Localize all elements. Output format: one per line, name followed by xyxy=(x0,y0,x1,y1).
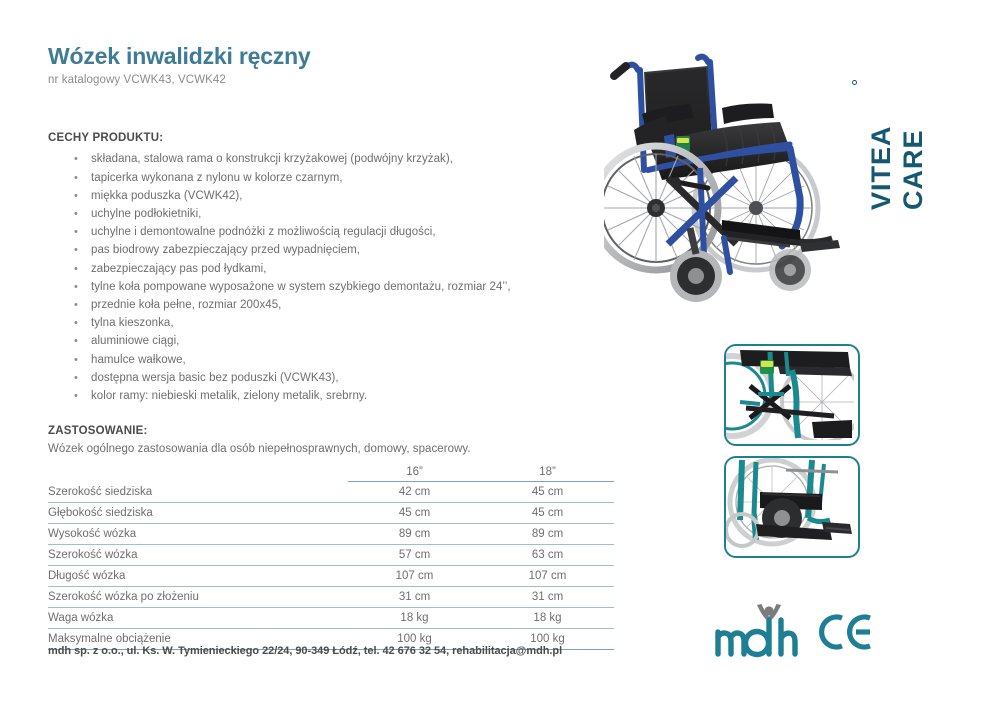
bullet-icon: • xyxy=(74,296,78,314)
row-value-18: 63 cm xyxy=(481,545,614,566)
row-value-18: 107 cm xyxy=(481,566,614,587)
table-body: Szerokość siedziska 42 cm 45 cm Głębokoś… xyxy=(48,482,614,650)
list-item: •tylna kieszonka, xyxy=(48,314,628,332)
bullet-icon: • xyxy=(74,278,78,296)
bullet-icon: • xyxy=(74,369,78,387)
bullet-icon: • xyxy=(74,351,78,369)
row-value-18: 45 cm xyxy=(481,503,614,524)
company-contact-line: mdh sp. z o.o., ul. Ks. W. Tymienieckieg… xyxy=(48,645,562,657)
bullet-icon: • xyxy=(74,260,78,278)
table-row: Wysokość wózka 89 cm 89 cm xyxy=(48,524,614,545)
list-item: •przednie koła pełne, rozmiar 200x45, xyxy=(48,296,628,314)
features-section: CECHY PRODUKTU: •składana, stalowa rama … xyxy=(48,132,628,405)
list-item: •hamulce wałkowe, xyxy=(48,351,628,369)
bullet-icon: • xyxy=(74,187,78,205)
table-row: Długość wózka 107 cm 107 cm xyxy=(48,566,614,587)
row-label: Szerokość siedziska xyxy=(48,482,348,503)
row-value-18: 45 cm xyxy=(481,482,614,503)
row-label: Waga wózka xyxy=(48,608,348,629)
bullet-icon: • xyxy=(74,314,78,332)
list-item-label: zabezpieczający pas pod łydkami, xyxy=(91,263,266,275)
list-item: •dostępna wersja basic bez poduszki (VCW… xyxy=(48,369,628,387)
list-item-label: dostępna wersja basic bez poduszki (VCWK… xyxy=(91,372,339,384)
specifications-table: 16” 18” Szerokość siedziska 42 cm 45 cm … xyxy=(48,462,614,650)
list-item: •zabezpieczający pas pod łydkami, xyxy=(48,260,628,278)
list-item: •aluminiowe ciągi, xyxy=(48,332,628,350)
care-wordmark: CARE xyxy=(900,129,927,210)
row-label: Głębokość siedziska xyxy=(48,503,348,524)
row-value-18: 18 kg xyxy=(481,608,614,629)
row-value-18: 31 cm xyxy=(481,587,614,608)
column-header-16: 16” xyxy=(348,462,481,482)
row-label: Wysokość wózka xyxy=(48,524,348,545)
specifications-table-container: 16” 18” Szerokość siedziska 42 cm 45 cm … xyxy=(48,462,614,650)
list-item-label: tapicerka wykonana z nylonu w kolorze cz… xyxy=(91,172,343,184)
main-product-photo xyxy=(604,48,842,310)
detail-photo-cross-brace xyxy=(724,344,860,446)
bullet-icon: • xyxy=(74,387,78,405)
column-header-18: 18” xyxy=(481,462,614,482)
table-row: Głębokość siedziska 45 cm 45 cm xyxy=(48,503,614,524)
list-item: •pas biodrowy zabezpieczający przed wypa… xyxy=(48,241,628,259)
row-value-16: 18 kg xyxy=(348,608,481,629)
catalog-number: nr katalogowy VCWK43, VCWK42 xyxy=(48,74,628,86)
ce-mark-icon xyxy=(818,612,874,652)
row-value-16: 89 cm xyxy=(348,524,481,545)
list-item-label: uchylne i demontowalne podnóżki z możliw… xyxy=(91,226,436,238)
list-item-label: składana, stalowa rama o konstrukcji krz… xyxy=(91,153,453,165)
list-item-label: uchylne podłokietniki, xyxy=(91,208,201,220)
vitea-wordmark: VITEA xyxy=(868,125,895,210)
list-item: •tylne koła pompowane wyposażone w syste… xyxy=(48,278,628,296)
table-header-row: 16” 18” xyxy=(48,462,614,482)
list-item-label: przednie koła pełne, rozmiar 200x45, xyxy=(91,299,281,311)
list-item: •kolor ramy: niebieski metalik, zielony … xyxy=(48,387,628,405)
mdh-logo xyxy=(712,604,822,658)
list-item-label: pas biodrowy zabezpieczający przed wypad… xyxy=(91,244,360,256)
row-value-16: 107 cm xyxy=(348,566,481,587)
table-header: 16” 18” xyxy=(48,462,614,482)
bullet-icon: • xyxy=(74,241,78,259)
feature-list: •składana, stalowa rama o konstrukcji kr… xyxy=(48,150,628,405)
list-item: •miękka poduszka (VCWK42), xyxy=(48,187,628,205)
application-text: Wózek ogólnego zastosowania dla osób nie… xyxy=(48,441,628,457)
vitea-care-logo: VITEA CARE xyxy=(846,62,892,212)
table-row: Szerokość siedziska 42 cm 45 cm xyxy=(48,482,614,503)
features-heading: CECHY PRODUKTU: xyxy=(48,132,628,144)
row-value-16: 31 cm xyxy=(348,587,481,608)
table-row: Waga wózka 18 kg 18 kg xyxy=(48,608,614,629)
row-value-18: 89 cm xyxy=(481,524,614,545)
row-value-16: 45 cm xyxy=(348,503,481,524)
application-heading: ZASTOSOWANIE: xyxy=(48,425,628,437)
content-column: Wózek inwalidzki ręczny nr katalogowy VC… xyxy=(48,44,628,457)
row-value-16: 42 cm xyxy=(348,482,481,503)
bullet-icon: • xyxy=(74,332,78,350)
bullet-icon: • xyxy=(74,223,78,241)
list-item-label: kolor ramy: niebieski metalik, zielony m… xyxy=(91,390,367,402)
list-item-label: miękka poduszka (VCWK42), xyxy=(91,190,242,202)
column-header-label xyxy=(48,462,348,482)
list-item: •tapicerka wykonana z nylonu w kolorze c… xyxy=(48,169,628,187)
list-item-label: tylna kieszonka, xyxy=(91,317,174,329)
detail-photo-footrest xyxy=(724,456,860,558)
list-item: •uchylne podłokietniki, xyxy=(48,205,628,223)
application-section: ZASTOSOWANIE: Wózek ogólnego zastosowani… xyxy=(48,425,628,457)
bullet-icon: • xyxy=(74,169,78,187)
registered-dot-icon xyxy=(852,80,857,85)
list-item-label: aluminiowe ciągi, xyxy=(91,335,179,347)
row-label: Szerokość wózka po złożeniu xyxy=(48,587,348,608)
table-row: Szerokość wózka 57 cm 63 cm xyxy=(48,545,614,566)
list-item: •uchylne i demontowalne podnóżki z możli… xyxy=(48,223,628,241)
list-item-label: tylne koła pompowane wyposażone w system… xyxy=(91,281,511,293)
row-value-16: 57 cm xyxy=(348,545,481,566)
row-label: Szerokość wózka xyxy=(48,545,348,566)
list-item: •składana, stalowa rama o konstrukcji kr… xyxy=(48,150,628,168)
bullet-icon: • xyxy=(74,150,78,168)
table-row: Szerokość wózka po złożeniu 31 cm 31 cm xyxy=(48,587,614,608)
page-title: Wózek inwalidzki ręczny xyxy=(48,44,628,69)
bullet-icon: • xyxy=(74,205,78,223)
row-label: Długość wózka xyxy=(48,566,348,587)
list-item-label: hamulce wałkowe, xyxy=(91,354,186,366)
